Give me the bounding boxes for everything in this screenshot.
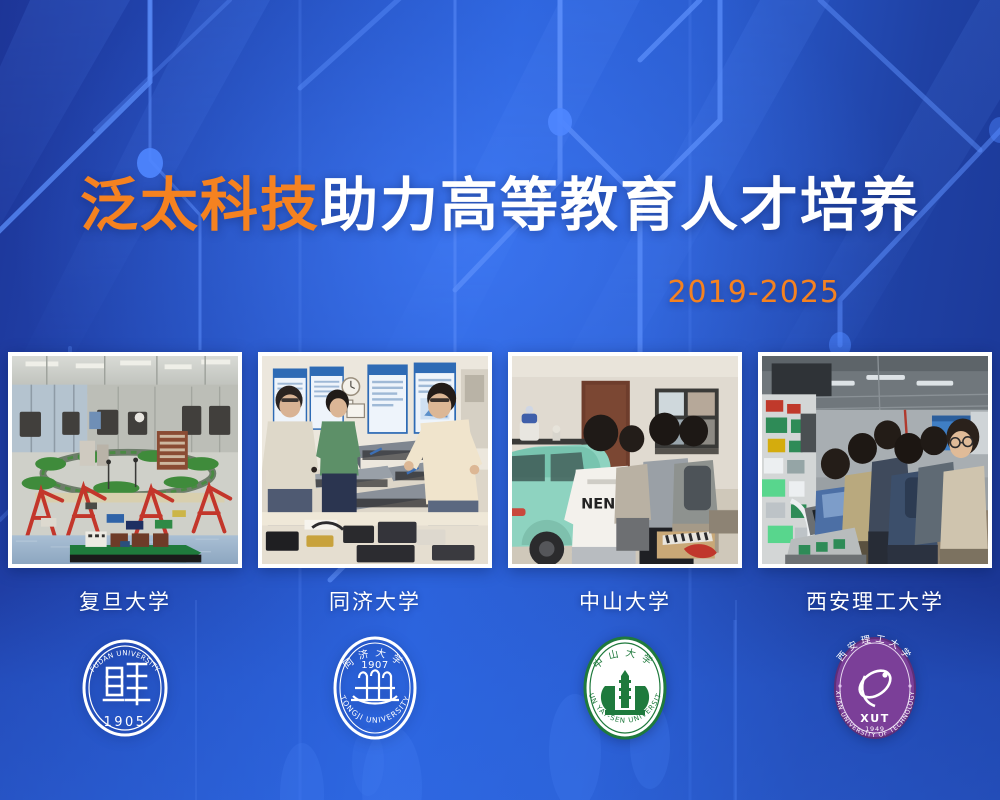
brand-name: 泛太科技	[80, 171, 320, 239]
fudan-university-seal: FUDAN UNIVERSITY 1905	[71, 630, 179, 746]
title-rest: 助力高等教育人才培养	[320, 171, 920, 239]
photo-card: 西安理工大学	[758, 352, 992, 616]
xut-year: 1949	[865, 725, 885, 733]
logo-cell: FUDAN UNIVERSITY 1905	[8, 628, 242, 748]
page-title: 泛太科技助力高等教育人才培养	[0, 174, 1000, 237]
tongji-university-seal: 同济大学 TONGJI UNIVERSITY 1907	[321, 630, 429, 746]
photo-card-row: 复旦大学	[0, 352, 1000, 616]
tongji-students-equipment-lab	[262, 356, 488, 564]
title-block: 泛太科技助力高等教育人才培养	[0, 174, 1000, 237]
fudan-year: 1905	[103, 715, 146, 730]
card-caption: 同济大学	[258, 586, 492, 616]
logo-cell: 西安理工大学 XI'AN UNIVERSITY OF TECHNOLOGY XU…	[758, 628, 992, 748]
card-caption: 中山大学	[508, 586, 742, 616]
svg-text:TONGJI UNIVERSITY: TONGJI UNIVERSITY	[337, 693, 412, 725]
photo-frame: NENR	[508, 352, 742, 568]
year-range-subtitle: 2019-2025	[667, 275, 840, 310]
photo-frame	[258, 352, 492, 568]
fudan-port-city-model-lab	[12, 356, 238, 564]
photo-frame	[758, 352, 992, 568]
subtitle-block: 2019-2025	[667, 275, 840, 310]
presentation-slide: 泛太科技助力高等教育人才培养 2019-2025	[0, 0, 1000, 800]
logo-cell: 同济大学 TONGJI UNIVERSITY 1907	[258, 628, 492, 748]
xian-university-of-technology-seal: 西安理工大学 XI'AN UNIVERSITY OF TECHNOLOGY XU…	[819, 630, 931, 746]
photo-card: 复旦大学	[8, 352, 242, 616]
photo-card: NENR	[508, 352, 742, 616]
photo-frame	[8, 352, 242, 568]
sysu-autonomous-vehicle-lab: NENR	[512, 356, 738, 564]
xut-abbr: XUT	[860, 712, 889, 725]
photo-card: 同济大学	[258, 352, 492, 616]
logo-cell: 中山大学 SUN YAT-SEN UNIVERSITY	[508, 628, 742, 748]
xut-students-equipment-demo	[762, 356, 988, 564]
card-caption: 西安理工大学	[758, 586, 992, 616]
card-caption: 复旦大学	[8, 586, 242, 616]
university-logo-row: FUDAN UNIVERSITY 1905	[0, 628, 1000, 748]
sun-yat-sen-university-seal: 中山大学 SUN YAT-SEN UNIVERSITY	[569, 630, 681, 746]
